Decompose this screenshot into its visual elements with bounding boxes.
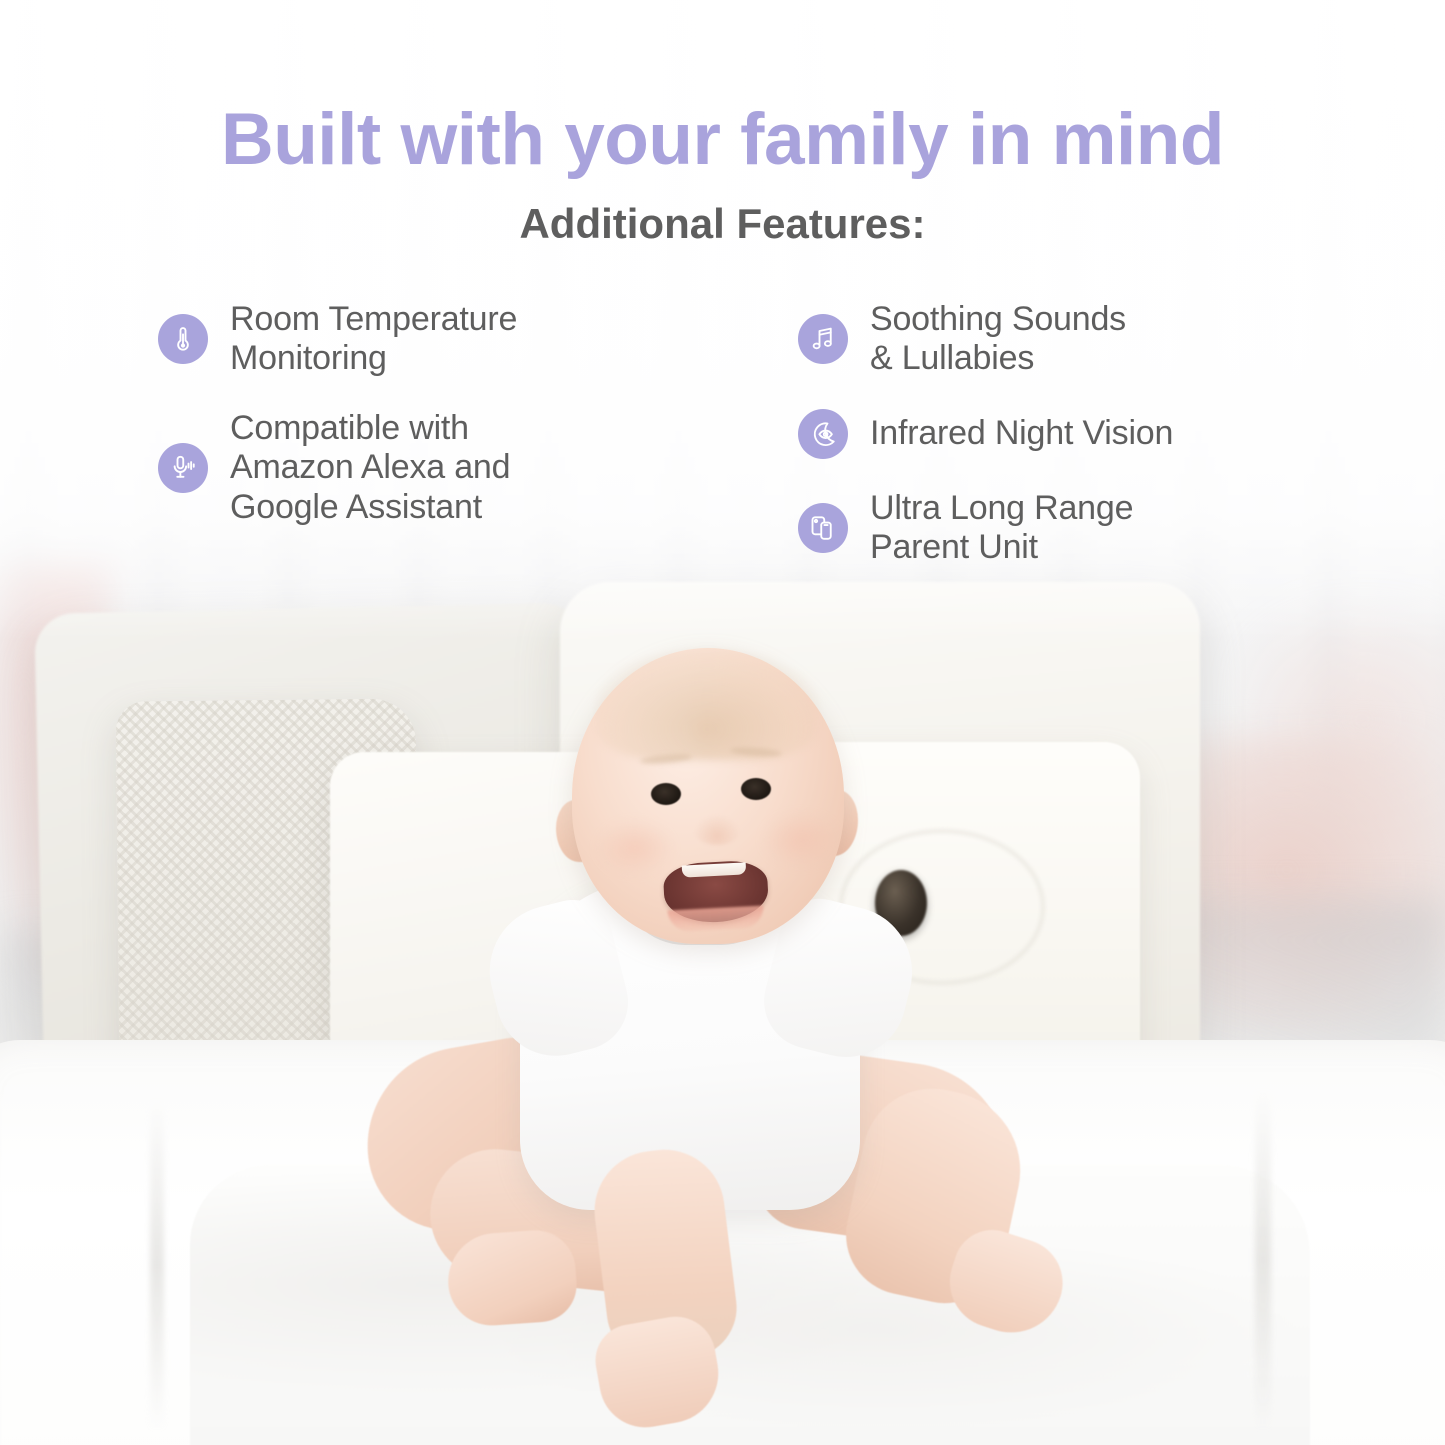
content-layer: Built with your family in mind Additiona…	[0, 0, 1445, 1445]
features-grid: Room Temperature Monitoring Compatible w…	[0, 300, 1445, 600]
section-subtitle: Additional Features:	[0, 203, 1445, 245]
feature-label: Compatible with Amazon Alexa and Google …	[230, 409, 510, 527]
music-note-icon	[798, 314, 848, 364]
feature-item-room-temperature: Room Temperature Monitoring	[158, 300, 718, 379]
feature-item-night-vision: Infrared Night Vision	[798, 409, 1318, 459]
page-title: Built with your family in mind	[0, 103, 1445, 176]
two-devices-icon	[798, 503, 848, 553]
features-column-left: Room Temperature Monitoring Compatible w…	[158, 300, 718, 557]
feature-item-voice-assistant: Compatible with Amazon Alexa and Google …	[158, 409, 718, 527]
thermometer-icon	[158, 314, 208, 364]
features-column-right: Soothing Sounds & Lullabies Infrared Nig…	[798, 300, 1318, 598]
feature-label: Room Temperature Monitoring	[230, 300, 517, 379]
feature-label: Infrared Night Vision	[870, 414, 1173, 453]
feature-item-soothing-sounds: Soothing Sounds & Lullabies	[798, 300, 1318, 379]
microphone-voice-icon	[158, 443, 208, 493]
feature-item-long-range-parent-unit: Ultra Long Range Parent Unit	[798, 489, 1318, 568]
product-feature-banner: Built with your family in mind Additiona…	[0, 0, 1445, 1445]
night-vision-moon-eye-icon	[798, 409, 848, 459]
feature-label: Soothing Sounds & Lullabies	[870, 300, 1126, 379]
feature-label: Ultra Long Range Parent Unit	[870, 489, 1133, 568]
